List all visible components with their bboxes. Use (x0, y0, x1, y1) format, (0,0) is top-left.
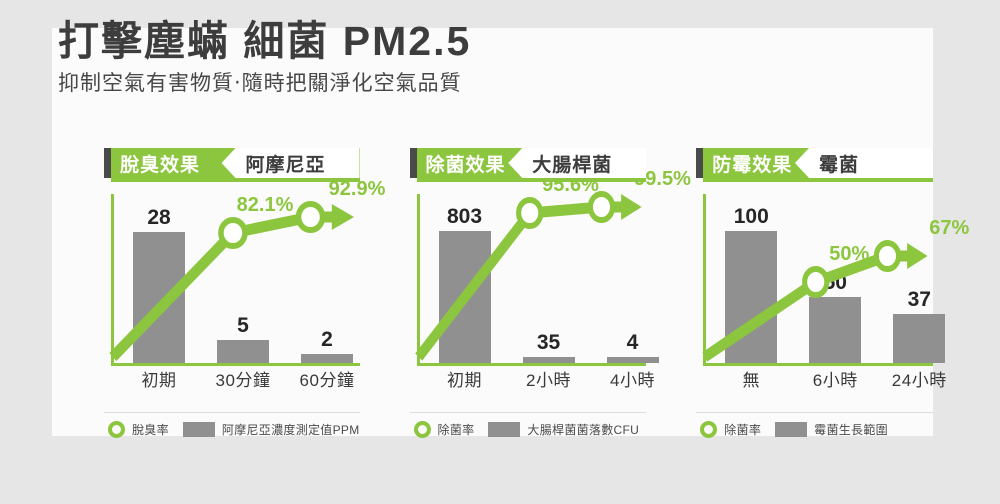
chart-panel: 除菌效果大腸桿菌80335495.6%99.5%初期2小時4小時除菌率大腸桿菌菌… (410, 148, 647, 434)
trend-arrowhead (330, 204, 354, 230)
panel-title: 脫臭效果 (111, 150, 200, 177)
trend-point-marker (221, 220, 245, 246)
category-label: 4小時 (610, 366, 655, 391)
bars-layer: 80335495.6%99.5% (417, 188, 647, 363)
bars-layer: 100503750%67% (703, 188, 933, 363)
panel-header: 防霉效果霉菌 (696, 148, 933, 178)
panel-subject-chevron: 阿摩尼亞 (222, 148, 360, 178)
category-label: 初期 (447, 366, 482, 391)
chart-panel: 脫臭效果阿摩尼亞285282.1%92.9%初期30分鐘60分鐘脫臭率阿摩尼亞濃… (104, 148, 360, 434)
category-axis-labels: 初期2小時4小時 (417, 366, 647, 388)
plot-area: 80335495.6%99.5%初期2小時4小時 (410, 188, 647, 384)
plot-area: 100503750%67%無6小時24小時 (696, 188, 933, 384)
trend-point-marker (877, 243, 899, 269)
trend-percent-label: 67% (929, 217, 969, 240)
ring-icon (414, 421, 431, 438)
trend-arrowhead (619, 194, 641, 220)
category-label: 30分鐘 (216, 366, 271, 391)
legend-swatch-label: 大腸桿菌菌落數CFU (527, 421, 639, 438)
panel-header-underline (703, 178, 933, 182)
panel-subject: 大腸桿菌 (508, 150, 612, 177)
panel-header-band: 除菌效果大腸桿菌 (417, 148, 647, 178)
legend-ring-label: 除菌率 (438, 421, 475, 438)
legend-swatch-label: 阿摩尼亞濃度測定值PPM (222, 421, 360, 438)
panel-header: 除菌效果大腸桿菌 (410, 148, 647, 178)
bars-layer: 285282.1%92.9% (111, 188, 360, 363)
trend-point-marker (590, 194, 612, 220)
panel-header-underline (417, 178, 647, 182)
panel-row: 脫臭效果阿摩尼亞285282.1%92.9%初期30分鐘60分鐘脫臭率阿摩尼亞濃… (52, 148, 933, 438)
panel-header-band: 脫臭效果阿摩尼亞 (111, 148, 360, 178)
trend-line (418, 207, 622, 357)
trend-point-marker (299, 204, 323, 230)
chart-legend: 除菌率霉菌生長範圍 (696, 413, 933, 438)
trend-point-marker (805, 269, 827, 295)
bar-swatch-icon (183, 422, 215, 437)
panel-header-underline (111, 178, 360, 182)
panel-tab-marker (410, 148, 417, 178)
trend-percent-label: 82.1% (237, 194, 294, 217)
chart-panel: 防霉效果霉菌100503750%67%無6小時24小時除菌率霉菌生長範圍 (696, 148, 933, 434)
page-subtitle: 抑制空氣有害物質‧隨時把關淨化空氣品質 (58, 70, 858, 98)
plot-area: 285282.1%92.9%初期30分鐘60分鐘 (104, 188, 360, 384)
legend-ring-label: 除菌率 (724, 421, 761, 438)
panel-header: 脫臭效果阿摩尼亞 (104, 148, 360, 178)
bar-swatch-icon (775, 422, 807, 437)
ring-icon (700, 421, 717, 438)
heading-block: 打擊塵蟎 細菌 PM2.5 抑制空氣有害物質‧隨時把關淨化空氣品質 (58, 16, 858, 98)
trend-line-svg (111, 188, 360, 363)
panel-header-band: 防霉效果霉菌 (703, 148, 933, 178)
panel-subject: 霉菌 (795, 150, 859, 177)
category-label: 無 (743, 366, 761, 391)
legend-ring-label: 脫臭率 (132, 421, 169, 438)
panel-tab-marker (696, 148, 703, 178)
category-axis-labels: 無6小時24小時 (703, 366, 933, 388)
panel-subject-chevron: 大腸桿菌 (508, 148, 646, 178)
trend-line-svg (703, 188, 933, 363)
ring-icon (108, 421, 125, 438)
panel-subject-chevron: 霉菌 (795, 148, 933, 178)
category-label: 24小時 (892, 366, 947, 391)
trend-arrowhead (906, 243, 928, 269)
category-axis-labels: 初期30分鐘60分鐘 (111, 366, 360, 388)
panel-subject: 阿摩尼亞 (222, 150, 326, 177)
panel-title: 防霉效果 (703, 150, 792, 177)
panel-tab-marker (104, 148, 111, 178)
chart-legend: 脫臭率阿摩尼亞濃度測定值PPM (104, 413, 360, 438)
panel-title: 除菌效果 (417, 150, 506, 177)
category-label: 6小時 (813, 366, 858, 391)
bar-swatch-icon (488, 422, 520, 437)
trend-percent-label: 50% (829, 243, 869, 266)
category-label: 60分鐘 (300, 366, 355, 391)
trend-percent-label: 92.9% (329, 178, 386, 201)
page-title: 打擊塵蟎 細菌 PM2.5 (58, 16, 858, 66)
trend-point-marker (518, 200, 540, 226)
legend-swatch-label: 霉菌生長範圍 (814, 421, 888, 438)
trend-line-svg (417, 188, 647, 363)
category-label: 2小時 (526, 366, 571, 391)
infographic-stage: 打擊塵蟎 細菌 PM2.5 抑制空氣有害物質‧隨時把關淨化空氣品質 脫臭效果阿摩… (0, 0, 1000, 504)
chart-legend: 除菌率大腸桿菌菌落數CFU (410, 413, 647, 438)
category-label: 初期 (142, 366, 177, 391)
